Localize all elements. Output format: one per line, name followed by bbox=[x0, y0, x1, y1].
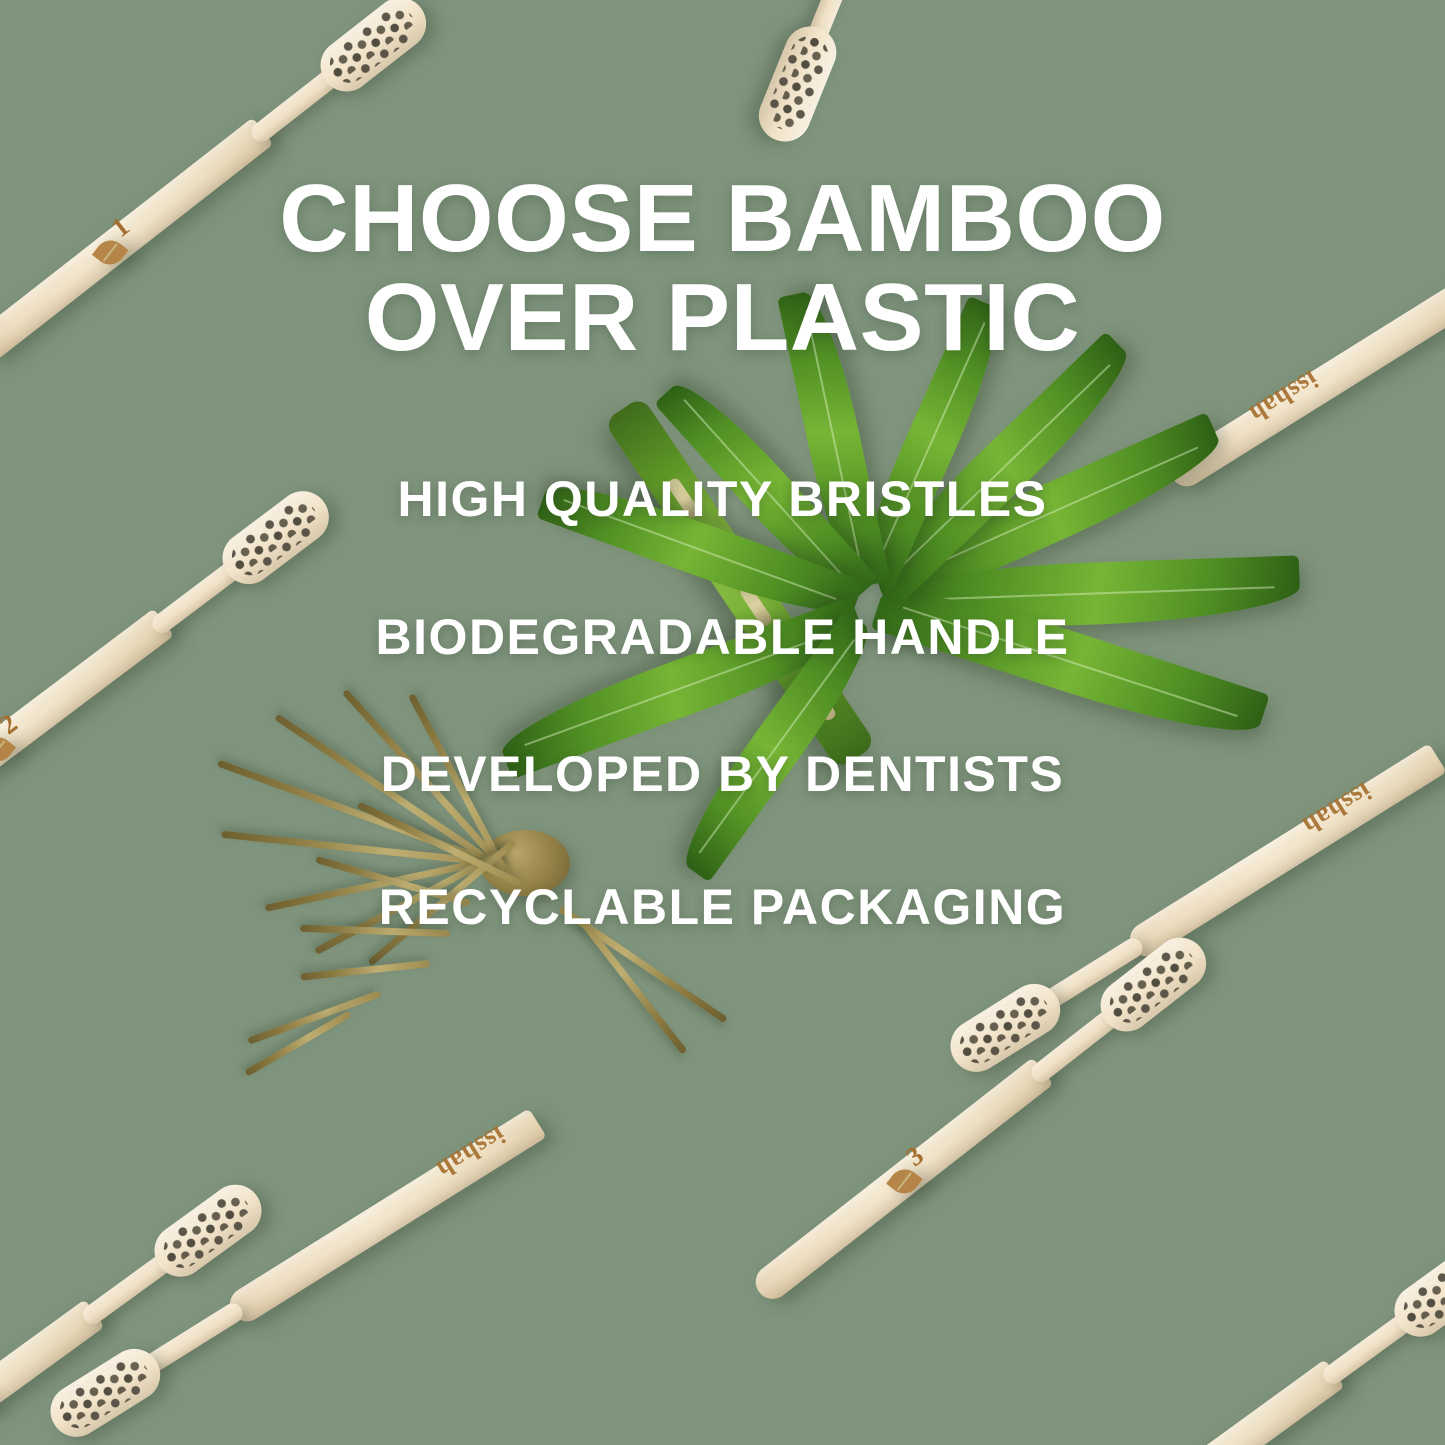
headline-line-1: CHOOSE BAMBOO bbox=[0, 170, 1445, 269]
feature-developed-by-dentists: DEVELOPED BY DENTISTS bbox=[0, 745, 1445, 803]
headline-line-2: OVER PLASTIC bbox=[0, 269, 1445, 368]
poster-canvas: 1 isshah isshah bbox=[0, 0, 1445, 1445]
page-title: CHOOSE BAMBOO OVER PLASTIC bbox=[0, 170, 1445, 368]
feature-high-quality-bristles: HIGH QUALITY BRISTLES bbox=[0, 470, 1445, 528]
feature-biodegradable-handle: BIODEGRADABLE HANDLE bbox=[0, 608, 1445, 666]
feature-recyclable-packaging: RECYCLABLE PACKAGING bbox=[0, 878, 1445, 936]
text-content: CHOOSE BAMBOO OVER PLASTIC HIGH QUALITY … bbox=[0, 0, 1445, 1445]
